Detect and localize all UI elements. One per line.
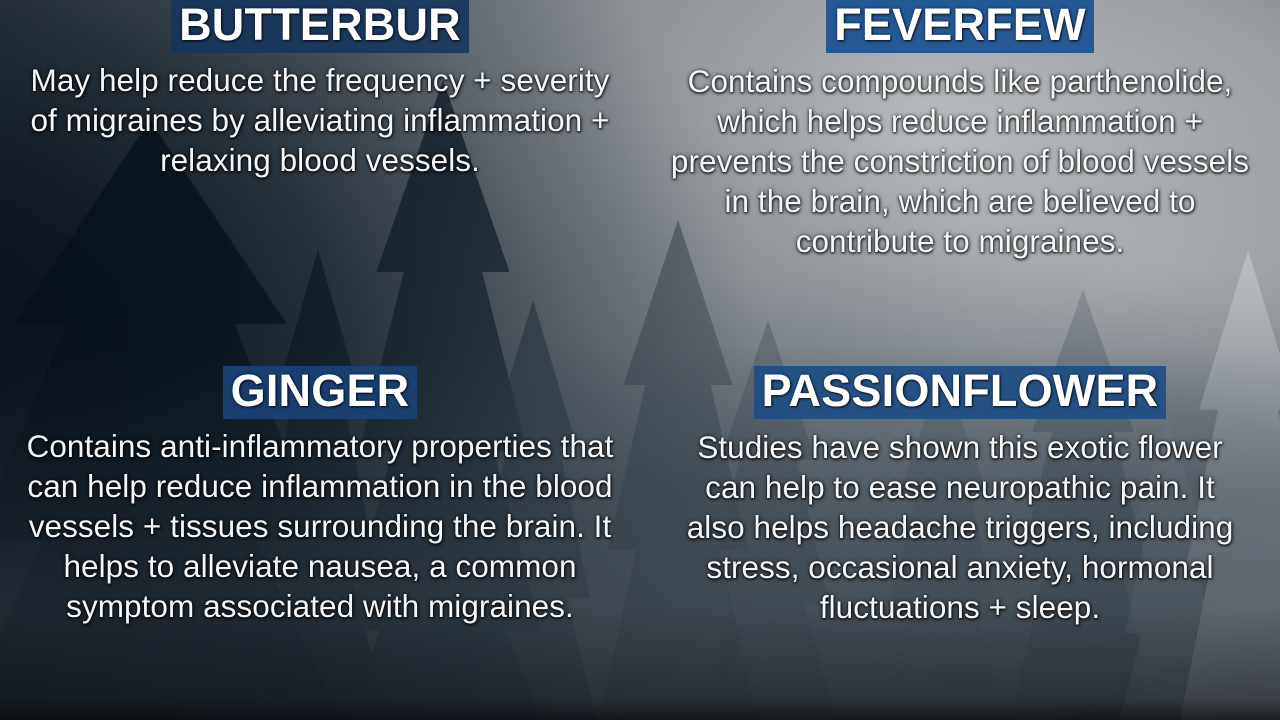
panel-grid: BUTTERBUR May help reduce the frequency … xyxy=(0,0,1280,720)
panel-body-ginger: Contains anti-inflammatory properties th… xyxy=(20,426,620,627)
infographic-slide: BUTTERBUR May help reduce the frequency … xyxy=(0,0,1280,720)
panel-passionflower: PASSIONFLOWER Studies have shown this ex… xyxy=(640,360,1280,720)
panel-heading-passionflower: PASSIONFLOWER xyxy=(754,366,1167,419)
panel-body-butterbur: May help reduce the frequency + severity… xyxy=(20,60,620,180)
panel-butterbur: BUTTERBUR May help reduce the frequency … xyxy=(0,0,640,360)
panel-body-passionflower: Studies have shown this exotic flower ca… xyxy=(680,427,1240,628)
panel-body-feverfew: Contains compounds like parthenolide, wh… xyxy=(664,61,1256,262)
panel-heading-ginger: GINGER xyxy=(223,366,418,419)
panel-heading-butterbur: BUTTERBUR xyxy=(171,0,469,53)
panel-ginger: GINGER Contains anti-inflammatory proper… xyxy=(0,360,640,720)
panel-feverfew: FEVERFEW Contains compounds like parthen… xyxy=(640,0,1280,360)
panel-heading-feverfew: FEVERFEW xyxy=(826,0,1094,53)
